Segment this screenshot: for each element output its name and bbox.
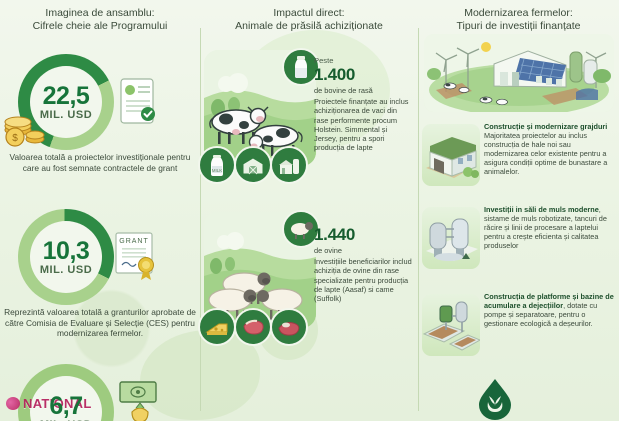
stat-value-3: 6,7 xyxy=(40,393,92,419)
barn-icon xyxy=(234,146,272,184)
stat-card-3: 6,7 MIL. USD xyxy=(0,358,200,421)
cheese-icon xyxy=(198,308,236,346)
cows-prefix: Peste xyxy=(314,56,412,65)
document-check-icon xyxy=(118,76,158,126)
left-column: Imaginea de ansamblu: Cifrele cheie ale … xyxy=(0,0,200,421)
milking-parlour-icon xyxy=(422,207,480,269)
cows-unit-line: de bovine de rasă xyxy=(314,86,412,95)
right-header-line1: Modernizarea fermelor: xyxy=(424,7,613,20)
left-header-line1: Imaginea de ansamblu: xyxy=(6,7,194,20)
center-block-cows: MILK xyxy=(204,50,412,200)
stat-value-2: 10,3 xyxy=(40,238,92,264)
center-header-line2: Animale de prăsilă achiziționate xyxy=(206,20,412,33)
investment-card-1-title: Construcție și modernizare grajduri xyxy=(484,122,607,131)
banknote-icon xyxy=(118,378,164,421)
left-column-header: Imaginea de ansamblu: Cifrele cheie ale … xyxy=(0,0,200,33)
center-column-header: Impactul direct: Animale de prăsilă achi… xyxy=(200,0,418,33)
stat-caption-1: Valoarea totală a proiectelor investițio… xyxy=(4,152,196,173)
stat-value-1: 22,5 xyxy=(40,83,92,109)
stat-value-group-1: 22,5 MIL. USD xyxy=(40,83,92,121)
sheep-value: 1.440 xyxy=(314,226,412,244)
investment-card-2-text: Investiții in săli de muls moderne, sist… xyxy=(484,205,616,250)
coins-icon: $ xyxy=(2,110,46,148)
stat-caption-2: Reprezintă valoarea totală a granturilor… xyxy=(4,307,196,339)
stat-unit-2: MIL. USD xyxy=(40,264,92,276)
investment-card-1-text: Construcție și modernizare grajduri Majo… xyxy=(484,122,616,176)
investment-card-2-title: Investiții in săli de muls moderne xyxy=(484,205,599,214)
progress-ring-2: 10,3 MIL. USD xyxy=(18,209,114,305)
milk-can-icon: MILK xyxy=(198,146,236,184)
sheep-description: Investițiile beneficiarilor includ achiz… xyxy=(314,257,412,303)
svg-text:GRANT: GRANT xyxy=(119,238,149,245)
center-block-sheep: 1.440 de ovine Investițiile beneficiaril… xyxy=(204,212,412,362)
cows-description: Proiectele finanțate au inclus achizițio… xyxy=(314,97,412,152)
dairy-farm-icon xyxy=(270,146,308,184)
investment-card-2: Investiții in săli de muls moderne, sist… xyxy=(422,205,616,283)
svg-text:$: $ xyxy=(12,133,18,144)
sheep-unit-line: de ovine xyxy=(314,246,412,255)
stat-card-2: 10,3 MIL. USD GRANT Reprezintă valoare xyxy=(0,203,200,343)
modern-farm-illustration xyxy=(424,34,614,112)
left-header-line2: Cifrele cheie ale Programului xyxy=(6,20,194,33)
center-text-cows: Peste 1.400 de bovine de rasă Proiectele… xyxy=(314,56,412,152)
steak-icon xyxy=(234,308,272,346)
stat-value-group-2: 10,3 MIL. USD xyxy=(40,238,92,276)
grant-certificate-icon: GRANT xyxy=(112,229,160,281)
meat-cut-icon xyxy=(270,308,308,346)
right-column-header: Modernizarea fermelor: Tipuri de investi… xyxy=(418,0,619,33)
investment-card-1: Construcție și modernizare grajduri Majo… xyxy=(422,122,616,200)
right-column: Modernizarea fermelor: Tipuri de investi… xyxy=(418,0,619,421)
manure-platform-icon xyxy=(422,294,480,356)
center-text-sheep: 1.440 de ovine Investițiile beneficiaril… xyxy=(314,226,412,303)
center-column: Impactul direct: Animale de prăsilă achi… xyxy=(200,0,418,421)
barn-building-icon xyxy=(422,124,480,186)
progress-ring-3: 6,7 MIL. USD xyxy=(18,364,114,421)
stat-value-group-3: 6,7 MIL. USD xyxy=(40,393,92,421)
investment-card-3-text: Construcția de platforme și bazine de ac… xyxy=(484,292,616,328)
center-header-line1: Impactul direct: xyxy=(206,7,412,20)
investment-card-1-body: Majoritatea proiectelor au inclus constr… xyxy=(484,131,607,176)
svg-text:MILK: MILK xyxy=(212,168,223,173)
infographic-page: Imaginea de ansamblu: Cifrele cheie ale … xyxy=(0,0,619,421)
stat-card-1: 22,5 MIL. USD $ xyxy=(0,48,200,188)
watermark-logo-icon xyxy=(6,397,20,410)
investment-card-3: Construcția de platforme și bazine de ac… xyxy=(422,292,616,370)
right-header-line2: Tipuri de investiții finanțate xyxy=(424,20,613,33)
stat-unit-1: MIL. USD xyxy=(40,109,92,121)
cows-value: 1.400 xyxy=(314,66,412,84)
